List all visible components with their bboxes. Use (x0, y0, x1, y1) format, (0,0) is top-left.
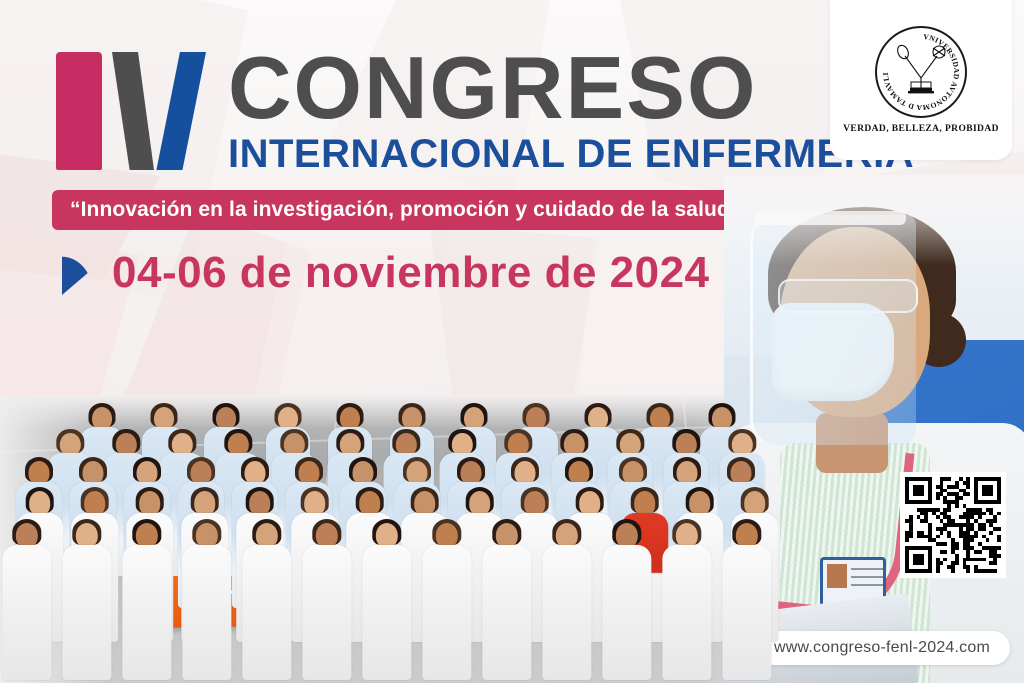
student-uniform (662, 545, 711, 679)
university-seal-card: VNIVERSIDAD AVTONOMA D TAMAVLIPAS VERDAD… (830, 0, 1012, 160)
svg-text:VNIVERSIDAD AVTONOMA D TAMAVLI: VNIVERSIDAD AVTONOMA D TAMAVLIPAS (875, 26, 961, 112)
student-figure (362, 519, 411, 683)
student-figure (302, 519, 351, 683)
wordmark: CONGRESO INTERNACIONAL DE ENFERMERÍA (228, 48, 914, 175)
student-figure (482, 519, 531, 683)
numeral-i-stroke (56, 52, 102, 170)
face-shield-headband (754, 211, 906, 225)
student-uniform (482, 545, 531, 679)
student-figure (542, 519, 591, 683)
student-uniform (422, 545, 471, 679)
website-url[interactable]: www.congreso-fenl-2024.com (754, 631, 1010, 665)
student-figure (182, 519, 231, 683)
page-subtitle: INTERNACIONAL DE ENFERMERÍA (228, 133, 914, 175)
qr-module (997, 569, 1001, 573)
qr-code[interactable] (900, 472, 1006, 578)
student-figure (2, 519, 51, 683)
quarter-circle-left-icon (62, 251, 98, 295)
badge-photo (827, 564, 847, 588)
student-uniform (362, 545, 411, 679)
student-figure (602, 519, 651, 683)
student-uniform (122, 545, 171, 679)
student-uniform (542, 545, 591, 679)
student-figure (662, 519, 711, 683)
student-figure (722, 519, 771, 683)
event-date: 04-06 de noviembre de 2024 (112, 248, 710, 298)
title-row: CONGRESO INTERNACIONAL DE ENFERMERÍA (52, 52, 914, 175)
slogan-banner: “Innovación en la investigación, promoci… (52, 190, 758, 230)
badge-line-3 (851, 584, 883, 586)
nursing-students-crowd (0, 395, 790, 683)
student-figure (62, 519, 111, 683)
student-uniform (302, 545, 351, 679)
student-uniform (602, 545, 651, 679)
student-uniform (182, 545, 231, 679)
student-uniform (62, 545, 111, 679)
edition-numeral-iv (52, 52, 220, 170)
student-uniform (2, 545, 51, 679)
uat-seal-icon: VNIVERSIDAD AVTONOMA D TAMAVLIPAS (875, 26, 967, 118)
face-shield (750, 215, 916, 445)
student-figure (242, 519, 291, 683)
numeral-v-left-stroke (112, 52, 154, 170)
seal-motto: VERDAD, BELLEZA, PROBIDAD (843, 124, 999, 134)
student-figure (422, 519, 471, 683)
page-title: CONGRESO (228, 48, 914, 129)
numeral-v-right-stroke (144, 52, 206, 170)
badge-line-2 (851, 576, 883, 578)
student-uniform (722, 545, 771, 679)
qr-code-matrix (905, 477, 1001, 573)
student-uniform (242, 545, 291, 679)
date-row: 04-06 de noviembre de 2024 (62, 248, 760, 298)
congress-poster: CONGRESO INTERNACIONAL DE ENFERMERÍA “In… (0, 0, 1024, 683)
badge-line-1 (851, 568, 883, 570)
student-figure (122, 519, 171, 683)
seal-ring-text: VNIVERSIDAD AVTONOMA D TAMAVLIPAS (875, 26, 967, 118)
seal-ring-label: VNIVERSIDAD AVTONOMA D TAMAVLIPAS (875, 26, 961, 112)
